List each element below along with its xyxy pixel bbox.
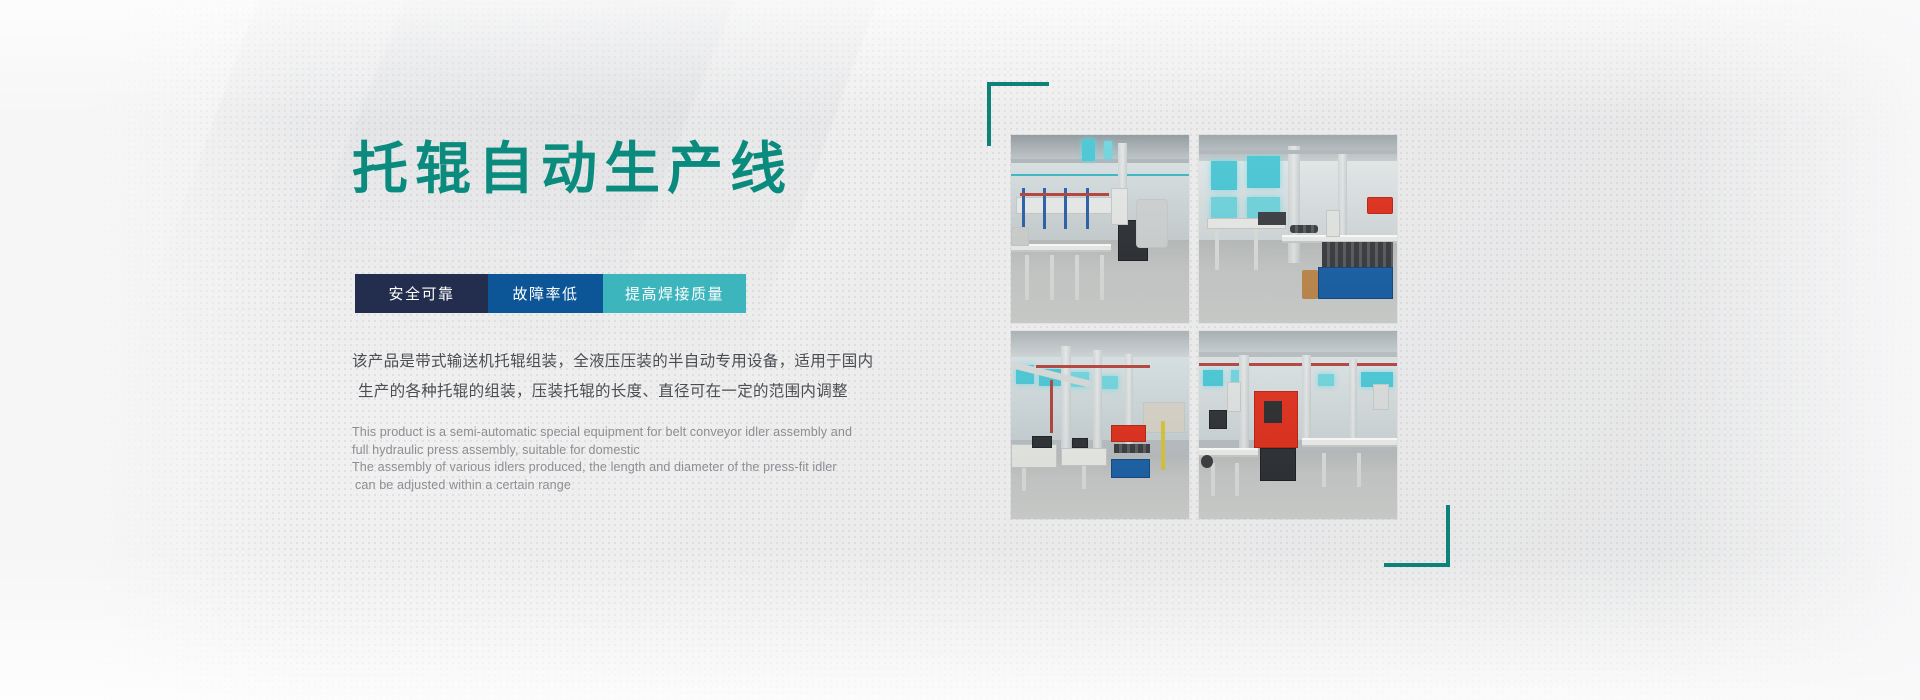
description-english-line-4: can be adjusted within a certain range	[352, 477, 892, 495]
gallery-photo-3[interactable]	[1011, 331, 1189, 519]
description-chinese-line-1: 该产品是带式输送机托辊组装，全液压压装的半自动专用设备，适用于国内	[352, 347, 912, 377]
bracket-line-horizontal	[987, 82, 1049, 86]
gallery-photo-4[interactable]	[1199, 331, 1397, 519]
page-title: 托辊自动生产线	[352, 141, 793, 197]
description-english-line-3: The assembly of various idlers produced,…	[352, 459, 892, 477]
bracket-line-horizontal	[1384, 563, 1450, 567]
description-chinese: 该产品是带式输送机托辊组装，全液压压装的半自动专用设备，适用于国内 生产的各种托…	[352, 347, 912, 407]
description-english-line-2: full hydraulic press assembly, suitable …	[352, 442, 892, 460]
gallery-photo-2[interactable]	[1199, 135, 1397, 323]
description-english: This product is a semi-automatic special…	[352, 424, 892, 494]
description-chinese-line-2: 生产的各种托辊的组装，压装托辊的长度、直径可在一定的范围内调整	[352, 377, 912, 407]
bracket-line-vertical	[1446, 505, 1450, 567]
feature-tag-row: 安全可靠 故障率低 提高焊接质量	[355, 274, 746, 313]
description-english-line-1: This product is a semi-automatic special…	[352, 424, 892, 442]
feature-tag-weld[interactable]: 提高焊接质量	[603, 274, 746, 313]
gallery-photo-1[interactable]	[1011, 135, 1189, 323]
feature-tag-safety[interactable]: 安全可靠	[355, 274, 488, 313]
feature-tag-failure[interactable]: 故障率低	[488, 274, 603, 313]
bracket-line-vertical	[987, 82, 991, 146]
product-photo-gallery	[1011, 135, 1417, 535]
banner: 托辊自动生产线 安全可靠 故障率低 提高焊接质量 该产品是带式输送机托辊组装，全…	[0, 0, 1920, 700]
